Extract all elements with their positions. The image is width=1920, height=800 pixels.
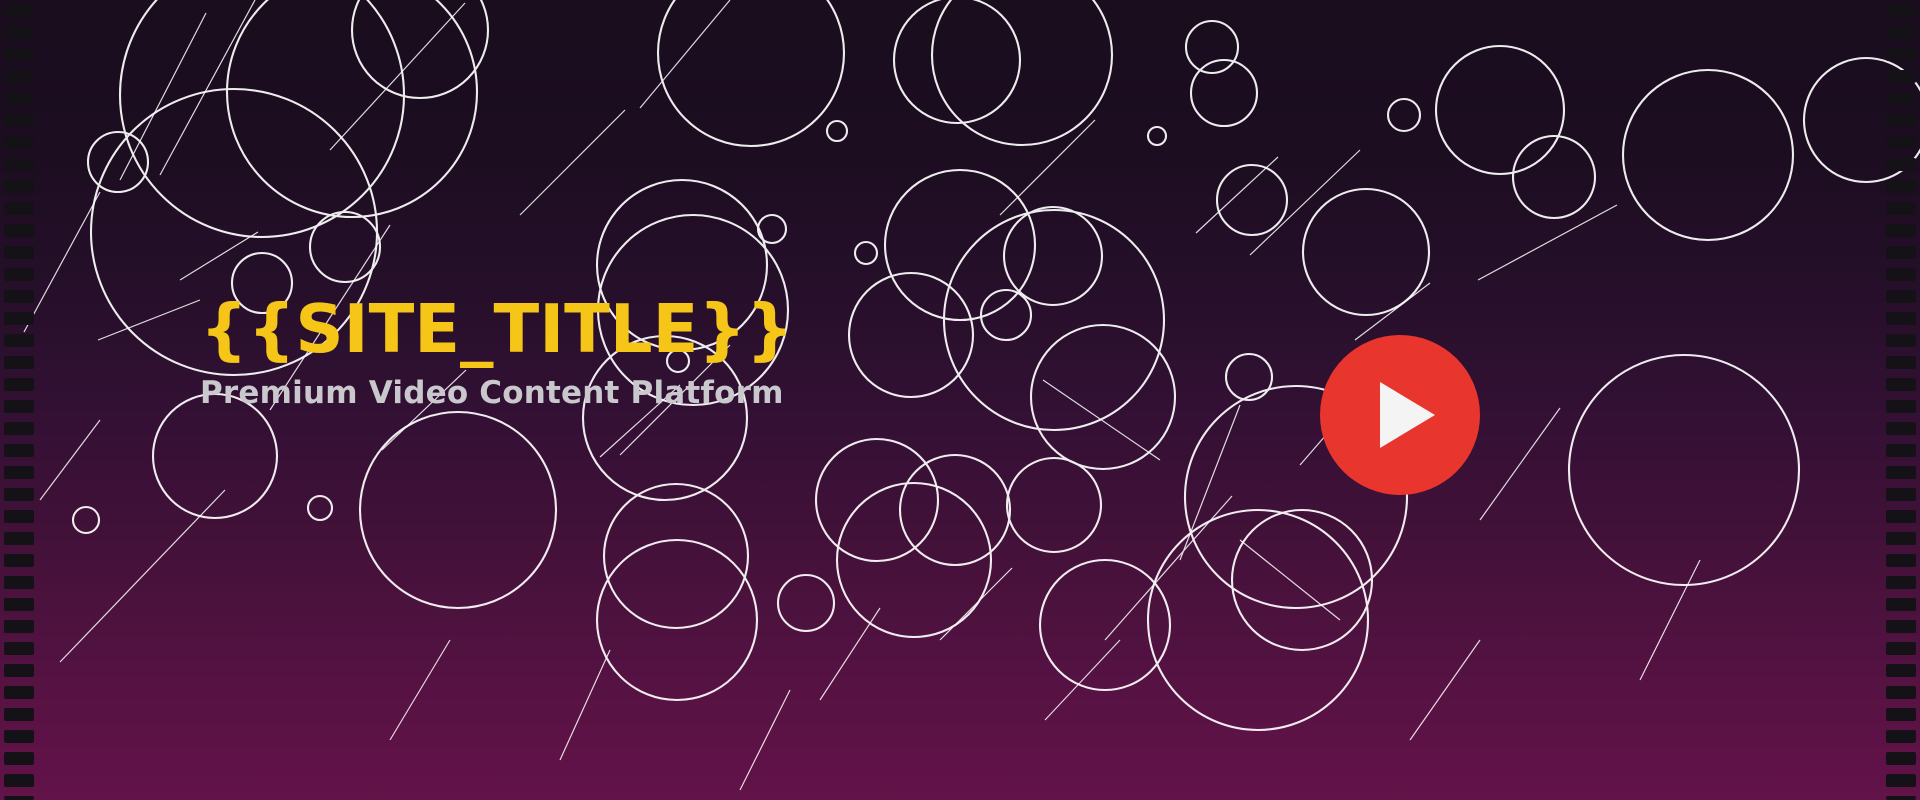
film-sprocket-hole [4, 488, 34, 501]
film-sprocket-hole [4, 752, 34, 765]
decorative-circle [1569, 355, 1799, 585]
film-sprocket-hole [1886, 26, 1916, 39]
film-sprocket-hole [4, 4, 34, 17]
film-sprocket-hole [1886, 532, 1916, 545]
decorative-line [1250, 150, 1360, 255]
film-sprocket-hole [1886, 620, 1916, 633]
film-sprocket-hole [1886, 158, 1916, 171]
film-sprocket-hole [4, 356, 34, 369]
film-sprocket-hole [4, 180, 34, 193]
film-sprocket-hole [1886, 400, 1916, 413]
film-sprocket-hole [4, 466, 34, 479]
decorative-line [1478, 205, 1617, 280]
decorative-line [60, 490, 225, 662]
decorative-line [1043, 380, 1160, 460]
decorative-line [740, 690, 790, 790]
film-sprocket-hole [4, 686, 34, 699]
decorative-circle [849, 273, 973, 397]
decorative-circle [1217, 165, 1287, 235]
decorative-circle [1031, 325, 1175, 469]
decorative-line [1355, 283, 1430, 340]
decorative-line [160, 0, 255, 175]
film-sprocket-hole [4, 664, 34, 677]
decorative-line [390, 640, 450, 740]
film-sprocket-hole [4, 400, 34, 413]
film-sprocket-hole [4, 796, 34, 800]
film-sprocket-hole [4, 158, 34, 171]
film-strip-left [0, 0, 44, 800]
decorative-circle [1148, 127, 1166, 145]
decorative-circle [1186, 21, 1238, 73]
film-sprocket-hole [1886, 444, 1916, 457]
decorative-line [40, 420, 100, 500]
film-sprocket-hole [1886, 598, 1916, 611]
decorative-line [98, 300, 200, 340]
film-sprocket-hole [1886, 48, 1916, 61]
play-triangle-icon [1380, 382, 1435, 448]
film-sprocket-hole [4, 114, 34, 127]
hero-banner: {{SITE_TITLE}} Premium Video Content Pla… [0, 0, 1920, 800]
film-sprocket-hole [4, 224, 34, 237]
decorative-circle [1388, 99, 1420, 131]
decorative-circle [894, 0, 1020, 123]
decorative-line [1410, 640, 1480, 740]
film-sprocket-hole [4, 378, 34, 391]
film-strip-right [1876, 0, 1920, 800]
film-sprocket-hole [1886, 290, 1916, 303]
film-sprocket-hole [1886, 796, 1916, 800]
film-sprocket-hole [4, 774, 34, 787]
film-sprocket-hole [4, 422, 34, 435]
film-sprocket-hole [1886, 224, 1916, 237]
decorative-circle [855, 242, 877, 264]
decorative-line [1180, 405, 1240, 560]
film-sprocket-hole [4, 70, 34, 83]
film-sprocket-hole [1886, 356, 1916, 369]
film-sprocket-hole [4, 510, 34, 523]
decorative-circle [360, 412, 556, 608]
film-sprocket-hole [1886, 268, 1916, 281]
decorative-circle [1226, 354, 1272, 400]
decorative-circle [1623, 70, 1793, 240]
decorative-circle [827, 121, 847, 141]
film-sprocket-hole [1886, 312, 1916, 325]
film-sprocket-hole [4, 48, 34, 61]
decorative-circle [604, 484, 748, 628]
film-sprocket-hole [1886, 246, 1916, 259]
film-sprocket-hole [4, 620, 34, 633]
decorative-line [1000, 120, 1095, 215]
film-sprocket-hole [1886, 642, 1916, 655]
decorative-circle [153, 394, 277, 518]
decorative-circle [308, 496, 332, 520]
film-sprocket-hole [1886, 488, 1916, 501]
decorative-line [560, 650, 610, 760]
film-sprocket-hole [4, 554, 34, 567]
film-sprocket-hole [4, 598, 34, 611]
film-sprocket-hole [1886, 92, 1916, 105]
decorative-circle [597, 540, 757, 700]
decorative-line [120, 13, 206, 180]
film-sprocket-hole [4, 136, 34, 149]
film-sprocket-hole [1886, 114, 1916, 127]
decorative-circle [900, 455, 1010, 565]
decorative-circle [1232, 510, 1372, 650]
film-sprocket-hole [4, 26, 34, 39]
play-button[interactable] [1320, 335, 1480, 495]
film-sprocket-hole [4, 642, 34, 655]
decorative-circle [1191, 60, 1257, 126]
decorative-circle [778, 575, 834, 631]
decorative-circle [1040, 560, 1170, 690]
decorative-circle [837, 483, 991, 637]
decorative-circle [981, 290, 1031, 340]
hero-copy: {{SITE_TITLE}} Premium Video Content Pla… [200, 296, 794, 409]
page-subtitle: Premium Video Content Platform [200, 363, 794, 409]
film-sprocket-hole [4, 312, 34, 325]
film-sprocket-hole [4, 290, 34, 303]
film-sprocket-hole [4, 246, 34, 259]
film-sprocket-hole [1886, 378, 1916, 391]
decorative-circle [885, 170, 1035, 320]
film-sprocket-hole [1886, 4, 1916, 17]
decorative-circle [816, 439, 938, 561]
decorative-circle [352, 0, 488, 98]
film-sprocket-hole [4, 202, 34, 215]
decorative-circle [1148, 510, 1368, 730]
decorative-line [1240, 540, 1340, 620]
film-sprocket-hole [1886, 180, 1916, 193]
film-sprocket-hole [4, 532, 34, 545]
film-sprocket-hole [1886, 422, 1916, 435]
film-sprocket-hole [4, 576, 34, 589]
decorative-line [180, 232, 258, 280]
decorative-line [330, 3, 465, 150]
film-sprocket-hole [1886, 752, 1916, 765]
decorative-circle [1436, 46, 1564, 174]
decorative-circle [944, 210, 1164, 430]
decorative-line [1640, 560, 1700, 680]
film-sprocket-hole [1886, 708, 1916, 721]
decorative-circle [88, 132, 148, 192]
film-sprocket-hole [1886, 202, 1916, 215]
decorative-line [820, 608, 880, 700]
decorative-line [1196, 157, 1278, 233]
decorative-circle [658, 0, 844, 146]
film-sprocket-hole [1886, 510, 1916, 523]
decorative-circle [1303, 189, 1429, 315]
decorative-circle [1007, 458, 1101, 552]
page-title: {{SITE_TITLE}} [200, 296, 794, 363]
film-sprocket-hole [4, 268, 34, 281]
film-sprocket-hole [4, 334, 34, 347]
film-sprocket-hole [1886, 466, 1916, 479]
decorative-circle [758, 215, 786, 243]
decorative-circle [1513, 136, 1595, 218]
decorative-line [520, 110, 625, 215]
decorative-line [1105, 496, 1232, 640]
decorative-line [1480, 408, 1560, 520]
film-sprocket-hole [4, 92, 34, 105]
decorative-line [640, 0, 730, 108]
film-sprocket-hole [1886, 730, 1916, 743]
decorative-line [940, 568, 1012, 640]
decorative-circle [120, 0, 404, 237]
film-sprocket-hole [1886, 554, 1916, 567]
film-sprocket-hole [1886, 664, 1916, 677]
decorative-circle [1004, 207, 1102, 305]
film-sprocket-hole [4, 444, 34, 457]
decorative-circle [73, 507, 99, 533]
film-sprocket-hole [4, 708, 34, 721]
decorative-circle [932, 0, 1112, 145]
film-sprocket-hole [1886, 70, 1916, 83]
film-sprocket-hole [1886, 136, 1916, 149]
film-sprocket-hole [1886, 576, 1916, 589]
film-sprocket-hole [1886, 774, 1916, 787]
film-sprocket-hole [4, 730, 34, 743]
decorative-line [1045, 640, 1120, 720]
film-sprocket-hole [1886, 334, 1916, 347]
film-sprocket-hole [1886, 686, 1916, 699]
decorative-circle [227, 0, 477, 217]
decorative-circle [310, 212, 380, 282]
